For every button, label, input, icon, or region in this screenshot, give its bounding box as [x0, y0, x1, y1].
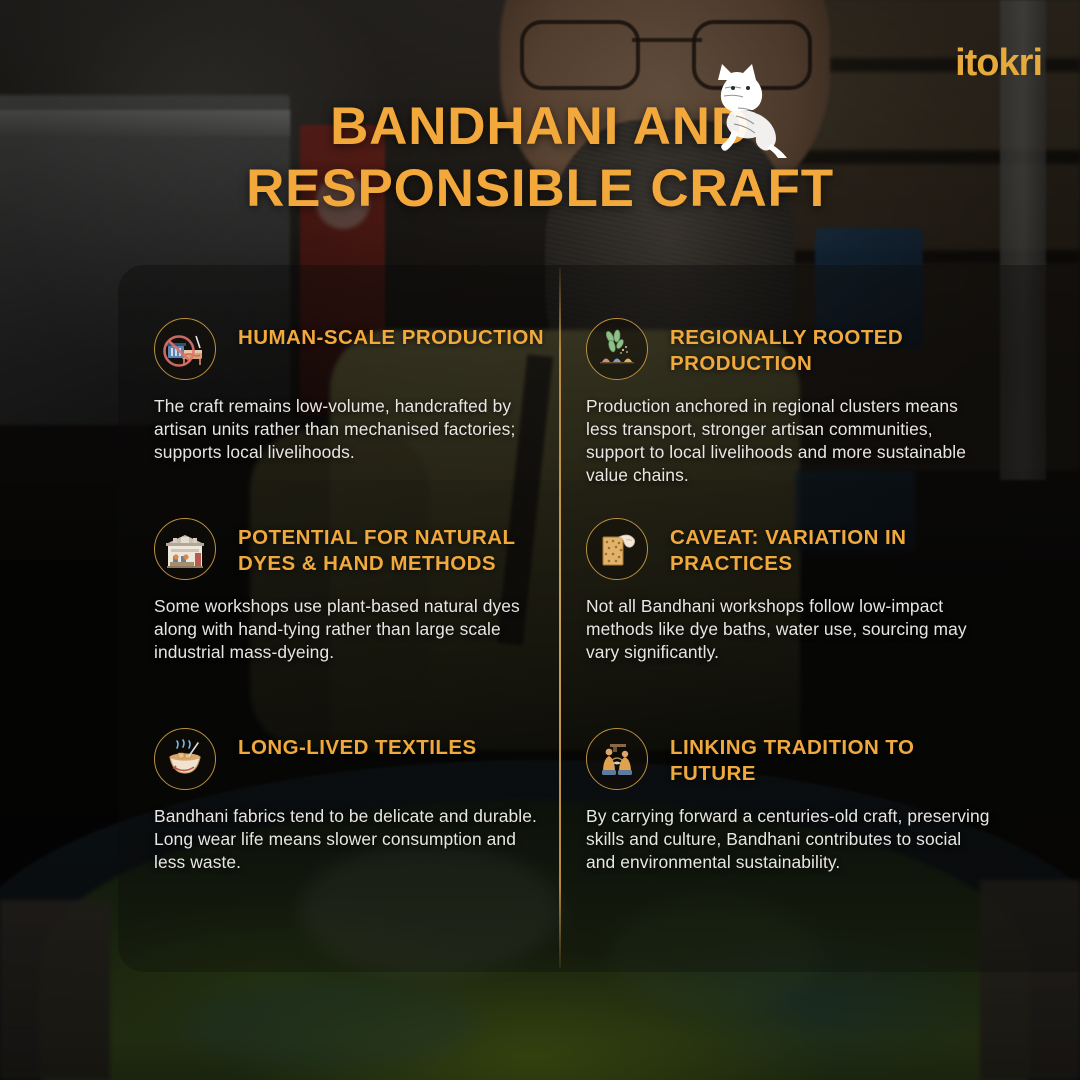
card-header: HUMAN-SCALE PRODUCTION [154, 318, 546, 380]
title-line-2: RESPONSIBLE CRAFT [246, 159, 834, 218]
two-artisans-icon [586, 728, 648, 790]
card-regionally-rooted-production[interactable]: REGIONALLY ROOTED PRODUCTION Production … [586, 318, 994, 488]
card-human-scale-production[interactable]: HUMAN-SCALE PRODUCTION The craft remains… [154, 318, 546, 464]
card-title: REGIONALLY ROOTED PRODUCTION [670, 318, 994, 377]
card-title: POTENTIAL FOR NATURAL DYES & HAND METHOD… [238, 518, 546, 577]
card-body: Some workshops use plant-based natural d… [154, 595, 546, 664]
page-title: BANDHANI AND RESPONSIBLE CRAFT [0, 96, 1080, 220]
card-title: HUMAN-SCALE PRODUCTION [238, 318, 544, 351]
card-body: The craft remains low-volume, handcrafte… [154, 395, 546, 464]
card-body: Bandhani fabrics tend to be delicate and… [154, 805, 546, 874]
title-line-1: BANDHANI AND [330, 97, 750, 156]
logo-text: itokri [955, 42, 1042, 84]
card-body: Production anchored in regional clusters… [586, 395, 994, 488]
card-header: LONG-LIVED TEXTILES [154, 728, 546, 790]
no-factory-machine-icon [154, 318, 216, 380]
steaming-dye-pot-icon [154, 728, 216, 790]
white-cat-illustration-icon [688, 58, 798, 158]
hand-holding-bandhani-fabric-icon [586, 518, 648, 580]
natural-dye-leaves-powders-icon [586, 318, 648, 380]
card-body: Not all Bandhani workshops follow low-im… [586, 595, 994, 664]
card-header: POTENTIAL FOR NATURAL DYES & HAND METHOD… [154, 518, 546, 580]
card-header: REGIONALLY ROOTED PRODUCTION [586, 318, 994, 380]
card-linking-tradition-to-future[interactable]: LINKING TRADITION TO FUTURE By carrying … [586, 728, 994, 874]
card-body: By carrying forward a centuries-old craf… [586, 805, 994, 874]
card-header: LINKING TRADITION TO FUTURE [586, 728, 994, 790]
artisan-workshop-building-icon [154, 518, 216, 580]
card-title: LONG-LIVED TEXTILES [238, 728, 477, 761]
card-header: CAVEAT: VARIATION IN PRACTICES [586, 518, 994, 580]
card-long-lived-textiles[interactable]: LONG-LIVED TEXTILES Bandhani fabrics ten… [154, 728, 546, 874]
itokri-logo[interactable]: itokri [955, 44, 1042, 82]
card-caveat-variation-in-practices[interactable]: CAVEAT: VARIATION IN PRACTICES Not all B… [586, 518, 994, 664]
card-title: LINKING TRADITION TO FUTURE [670, 728, 994, 787]
card-potential-for-natural-dyes[interactable]: POTENTIAL FOR NATURAL DYES & HAND METHOD… [154, 518, 546, 664]
card-title: CAVEAT: VARIATION IN PRACTICES [670, 518, 994, 577]
